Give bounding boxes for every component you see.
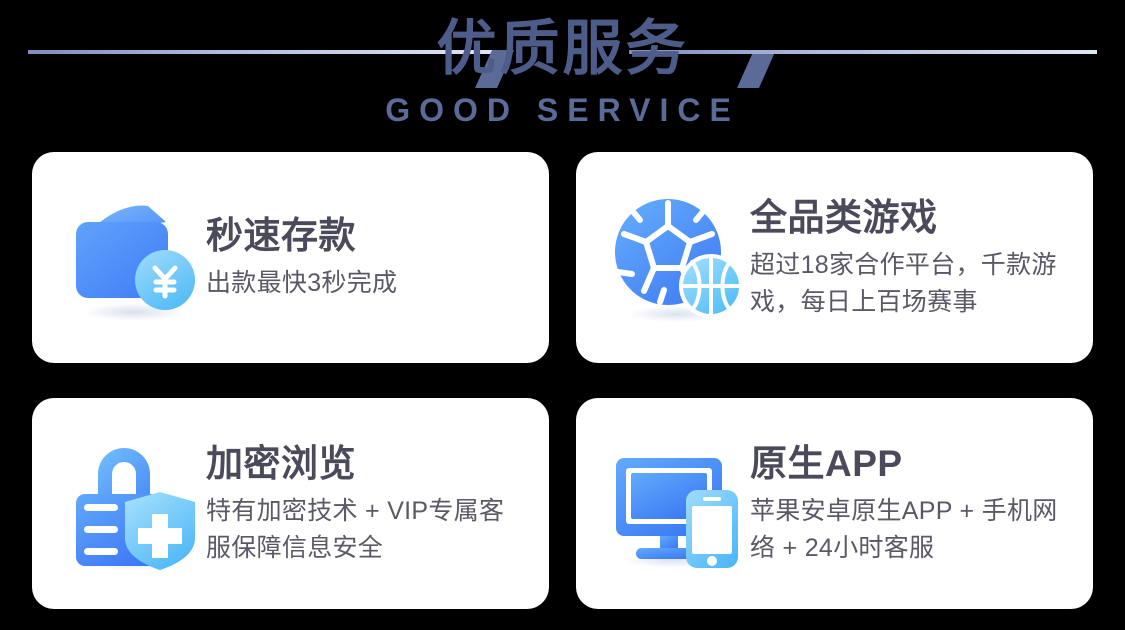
- page-title: 优质服务: [0, 8, 1125, 90]
- service-card[interactable]: 加密浏览 特有加密技术 + VIP专属客服保障信息安全: [32, 398, 549, 609]
- service-card-desc: 特有加密技术 + VIP专属客服保障信息安全: [206, 493, 523, 567]
- service-card[interactable]: 原生APP 苹果安卓原生APP + 手机网络 + 24小时客服: [576, 398, 1093, 609]
- service-card-desc: 出款最快3秒完成: [206, 265, 523, 302]
- service-card-title: 加密浏览: [206, 441, 523, 487]
- service-card-desc: 苹果安卓原生APP + 手机网络 + 24小时客服: [750, 493, 1067, 567]
- service-card[interactable]: 秒速存款 出款最快3秒完成: [32, 152, 549, 363]
- service-card-desc: 超过18家合作平台，千款游戏，每日上百场赛事: [750, 247, 1067, 321]
- page-subtitle: GOOD SERVICE: [0, 92, 1125, 128]
- soccer-basketball-icon: [606, 188, 746, 328]
- service-card[interactable]: 全品类游戏 超过18家合作平台，千款游戏，每日上百场赛事: [576, 152, 1093, 363]
- service-card-text: 全品类游戏 超过18家合作平台，千款游戏，每日上百场赛事: [746, 195, 1067, 321]
- service-card-text: 秒速存款 出款最快3秒完成: [202, 213, 523, 302]
- service-card-grid: 秒速存款 出款最快3秒完成: [32, 152, 1093, 609]
- service-card-text: 加密浏览 特有加密技术 + VIP专属客服保障信息安全: [202, 441, 523, 567]
- service-card-text: 原生APP 苹果安卓原生APP + 手机网络 + 24小时客服: [746, 441, 1067, 567]
- header-title-block: 优质服务 GOOD SERVICE: [0, 8, 1125, 128]
- lock-shield-icon: [62, 434, 202, 574]
- service-card-title: 全品类游戏: [750, 195, 1067, 241]
- wallet-yen-icon: [62, 188, 202, 328]
- service-card-title: 秒速存款: [206, 213, 523, 259]
- monitor-phone-icon: [606, 434, 746, 574]
- page-header: 优质服务 GOOD SERVICE: [0, 0, 1125, 148]
- service-card-title: 原生APP: [750, 441, 1067, 487]
